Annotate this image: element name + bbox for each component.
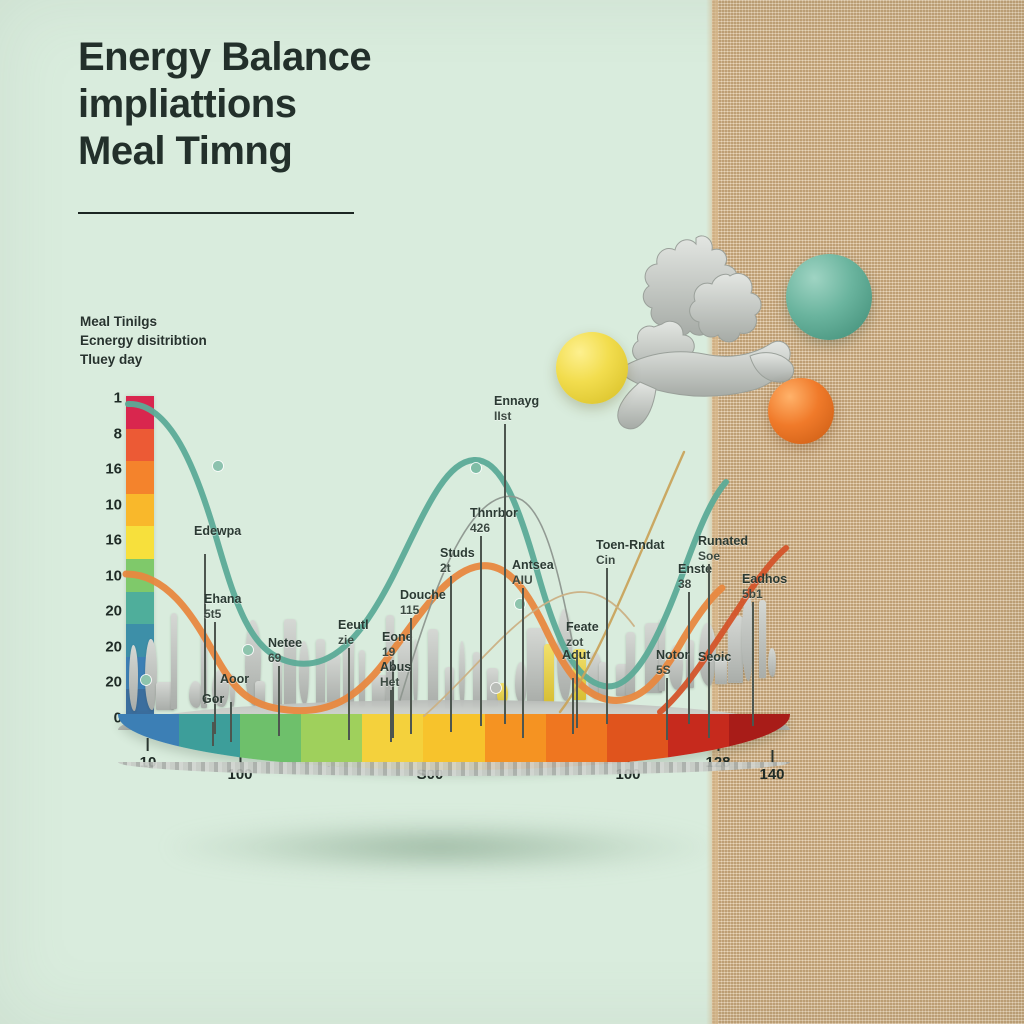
annotation-value: Het: [380, 675, 476, 689]
chart-annotation: Featezot: [566, 620, 662, 649]
annotation-leader-line: [666, 678, 668, 740]
annotation-value: IIst: [494, 409, 590, 423]
annotation-leader-line: [230, 702, 232, 742]
annotation-label: Ehana: [204, 592, 300, 607]
annotation-label: Toen-Rndat: [596, 538, 692, 553]
chart-annotation: Aoor: [220, 672, 316, 687]
annotation-label: Aoor: [220, 672, 316, 687]
annotation-value: 5S: [656, 663, 752, 677]
annotation-value: 115: [400, 603, 496, 617]
annotation-leader-line: [450, 576, 452, 732]
annotation-value: Soe: [698, 549, 794, 563]
data-point-marker: [471, 463, 482, 474]
annotation-value: 5t5: [204, 607, 300, 621]
data-point-marker: [491, 683, 502, 694]
chart-annotation: Eone19: [382, 630, 478, 659]
annotation-value: 426: [470, 521, 566, 535]
poster-canvas: Energy Balance impliattions Meal Timng M…: [0, 0, 1024, 1024]
annotation-label: Notor: [656, 648, 752, 663]
annotation-leader-line: [390, 690, 392, 742]
data-point-marker: [141, 675, 152, 686]
chart-annotation: Douche115: [400, 588, 496, 617]
annotation-leader-line: [212, 722, 214, 746]
annotation-value: zot: [566, 635, 662, 649]
annotation-value: 69: [268, 651, 364, 665]
data-point-marker: [213, 461, 224, 472]
annotation-leader-line: [348, 648, 350, 740]
annotation-leader-line: [572, 678, 574, 734]
annotation-label: Abus: [380, 660, 476, 675]
annotation-label: Douche: [400, 588, 496, 603]
annotation-label: Gor: [202, 692, 298, 707]
annotation-leader-line: [504, 424, 506, 724]
chart-annotation: Notor5S: [656, 648, 752, 677]
teal-sphere: [786, 254, 872, 340]
annotation-label: Thnrbor: [470, 506, 566, 521]
annotation-leader-line: [752, 602, 754, 726]
yellow-sphere: [556, 332, 628, 404]
annotation-value: 19: [382, 645, 478, 659]
annotation-leader-line: [214, 622, 216, 734]
annotation-label: Eone: [382, 630, 478, 645]
annotation-label: Antsea: [512, 558, 608, 573]
annotation-label: Feate: [566, 620, 662, 635]
annotation-leader-line: [708, 680, 710, 738]
chart-annotation: AbusHet: [380, 660, 476, 689]
annotation-value: 5b1: [742, 587, 838, 601]
annotation-label: Eadhos: [742, 572, 838, 587]
chart-annotation: AntseaAIU: [512, 558, 608, 587]
annotation-value: AIU: [512, 573, 608, 587]
chart-annotation: Ehana5t5: [204, 592, 300, 621]
annotation-label: Runated: [698, 534, 794, 549]
annotation-leader-line: [522, 588, 524, 738]
annotation-leader-line: [204, 554, 206, 704]
annotation-leader-line: [480, 536, 482, 726]
annotation-label: Edewpa: [194, 524, 290, 539]
orange-sphere: [768, 378, 834, 444]
chart-annotation: Gor: [202, 692, 298, 707]
annotation-leader-line: [576, 650, 578, 728]
data-point-marker: [243, 645, 254, 656]
chart-annotation: RunatedSoe: [698, 534, 794, 563]
chart-annotation: Thnrbor426: [470, 506, 566, 535]
chart-annotation: Eadhos5b1: [742, 572, 838, 601]
chart-annotation: Edewpa: [194, 524, 290, 539]
data-point-marker: [515, 599, 526, 610]
